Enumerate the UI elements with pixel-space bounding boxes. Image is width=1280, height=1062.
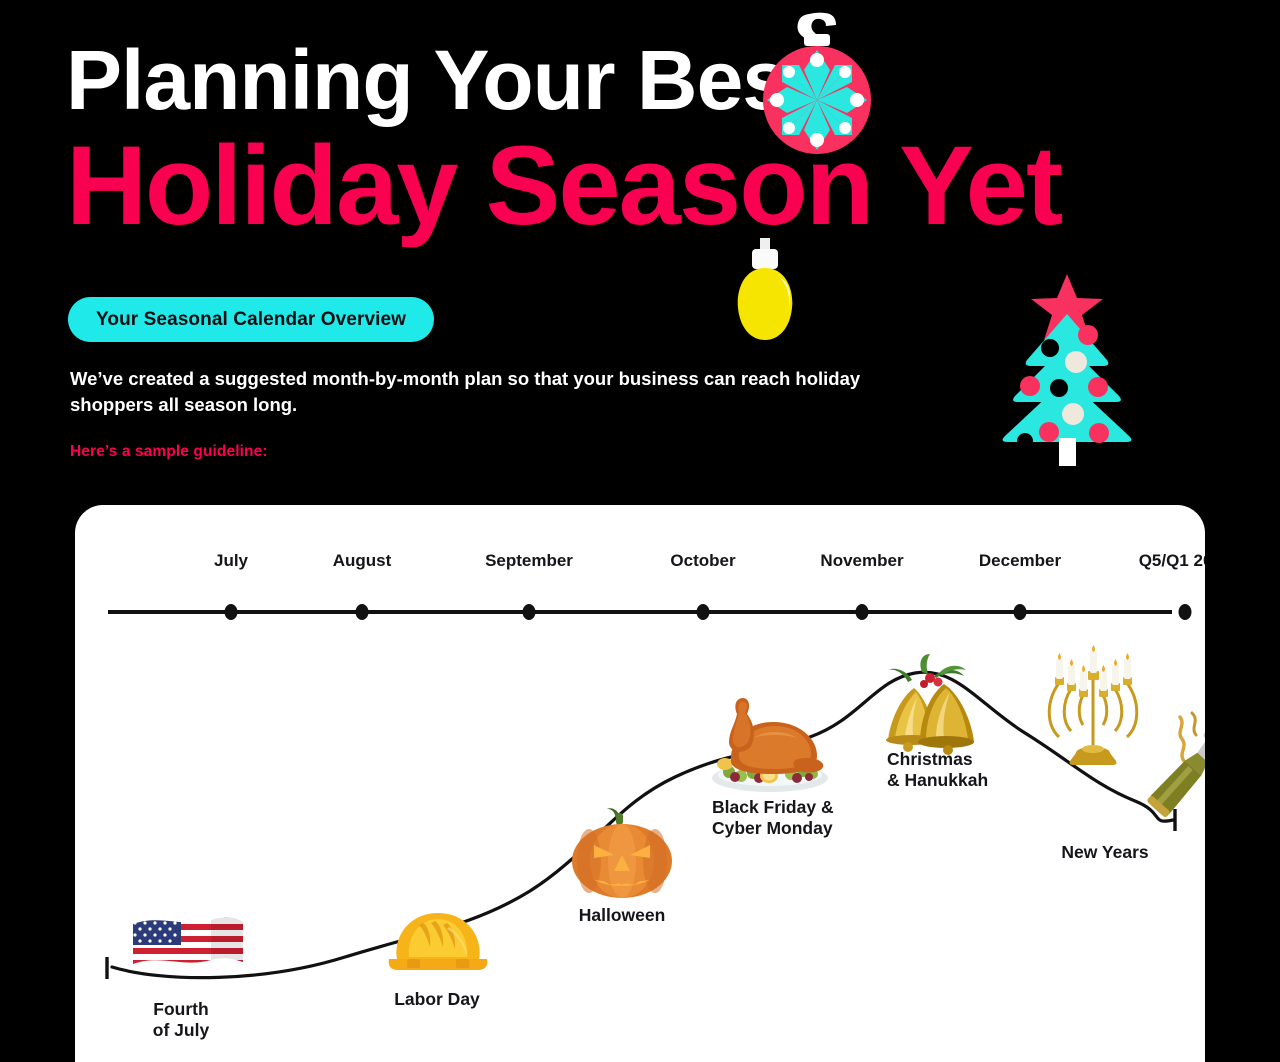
champagne-bottle-icon bbox=[1120, 703, 1205, 833]
title-line-2: Holiday Season Yet bbox=[66, 130, 1246, 242]
light-bulb-icon bbox=[730, 238, 800, 344]
event-label-christmas-hanukkah: Christmas & Hanukkah bbox=[887, 749, 988, 792]
page-title: Planning Your Best Holiday Season Yet bbox=[66, 38, 1246, 242]
event-label-fourth-of-july: Fourth of July bbox=[153, 999, 209, 1042]
sample-guideline-label: Here’s a sample guideline: bbox=[70, 443, 268, 461]
ornament-icon bbox=[752, 8, 878, 158]
intro-paragraph: We’ve created a suggested month-by-month… bbox=[70, 366, 880, 419]
jack-o-lantern-icon bbox=[567, 805, 677, 905]
seasonal-calendar-badge: Your Seasonal Calendar Overview bbox=[68, 297, 434, 342]
american-flag-icon bbox=[123, 912, 248, 997]
christmas-tree-icon bbox=[995, 272, 1140, 468]
timeline-card: JulyAugustSeptemberOctoberNovemberDecemb… bbox=[75, 505, 1205, 1062]
title-line-1: Planning Your Best bbox=[66, 38, 1246, 122]
hard-hat-icon bbox=[383, 897, 493, 987]
bells-and-menorah-icon bbox=[878, 650, 998, 765]
event-label-halloween: Halloween bbox=[579, 905, 666, 926]
event-label-black-friday: Black Friday & Cyber Monday bbox=[712, 797, 834, 840]
badge-label: Your Seasonal Calendar Overview bbox=[96, 309, 406, 331]
event-label-new-years: New Years bbox=[1061, 842, 1148, 863]
roast-turkey-icon bbox=[703, 690, 838, 800]
event-label-labor-day: Labor Day bbox=[394, 989, 480, 1010]
